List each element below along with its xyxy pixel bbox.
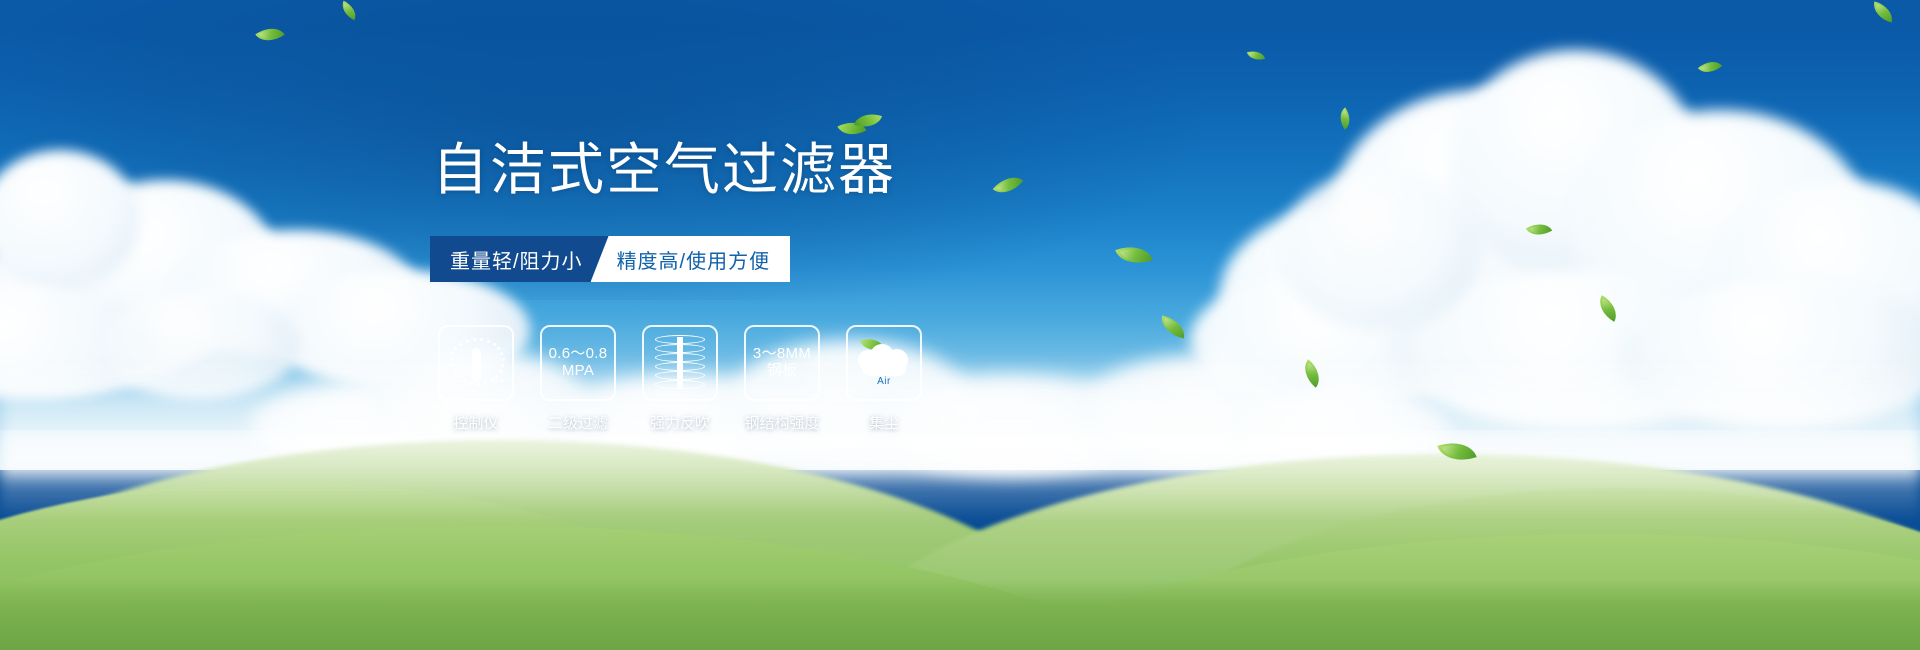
feature-icon-box: 3～8MM 钢板	[744, 325, 820, 401]
tagline-group: 重量轻/阻力小 精度高/使用方便	[430, 236, 790, 282]
feature-item[interactable]: 0.6～0.8 MPA 二级过滤	[540, 325, 616, 433]
feature-item[interactable]: 强力反吹	[642, 325, 718, 433]
feature-label: 集尘	[869, 412, 899, 433]
page-title: 自洁式空气过滤器	[432, 125, 896, 206]
feature-list: NO OFF 控制仪 0.6～0.8 MPA 二级过滤	[438, 325, 922, 433]
feature-item[interactable]: 3～8MM 钢板 钢结构强度	[744, 325, 820, 433]
coil-icon	[655, 335, 705, 391]
gauge-icon: NO OFF	[447, 336, 505, 390]
tagline-primary: 重量轻/阻力小	[430, 236, 609, 282]
feature-label: 控制仪	[453, 412, 498, 433]
feature-box-text-line1: 3～8MM	[753, 346, 811, 363]
feature-label: 钢结构强度	[744, 412, 819, 433]
feature-box-text-line2: 钢板	[767, 363, 798, 380]
feature-label: 强力反吹	[650, 412, 710, 433]
feature-icon-box: 0.6～0.8 MPA	[540, 325, 616, 401]
feature-box-text-line2: MPA	[562, 363, 594, 380]
feature-icon-box: Air	[846, 325, 922, 401]
title-leaf-icon	[838, 110, 880, 140]
product-hero-banner: 自洁式空气过滤器 重量轻/阻力小 精度高/使用方便	[0, 0, 1920, 650]
feature-icon-box	[642, 325, 718, 401]
air-label: Air	[877, 376, 891, 387]
feature-label: 二级过滤	[548, 412, 608, 433]
gauge-no-label: NO	[447, 364, 455, 370]
banner-content: 自洁式空气过滤器 重量轻/阻力小 精度高/使用方便	[0, 0, 1920, 650]
feature-item[interactable]: NO OFF 控制仪	[438, 325, 514, 433]
feature-box-text-line1: 0.6～0.8	[549, 346, 608, 363]
gauge-off-label: OFF	[493, 380, 504, 386]
feature-item[interactable]: Air 集尘	[846, 325, 922, 433]
dust-cloud-icon: Air	[856, 340, 912, 386]
tagline-secondary: 精度高/使用方便	[591, 236, 791, 282]
feature-icon-box: NO OFF	[438, 325, 514, 401]
